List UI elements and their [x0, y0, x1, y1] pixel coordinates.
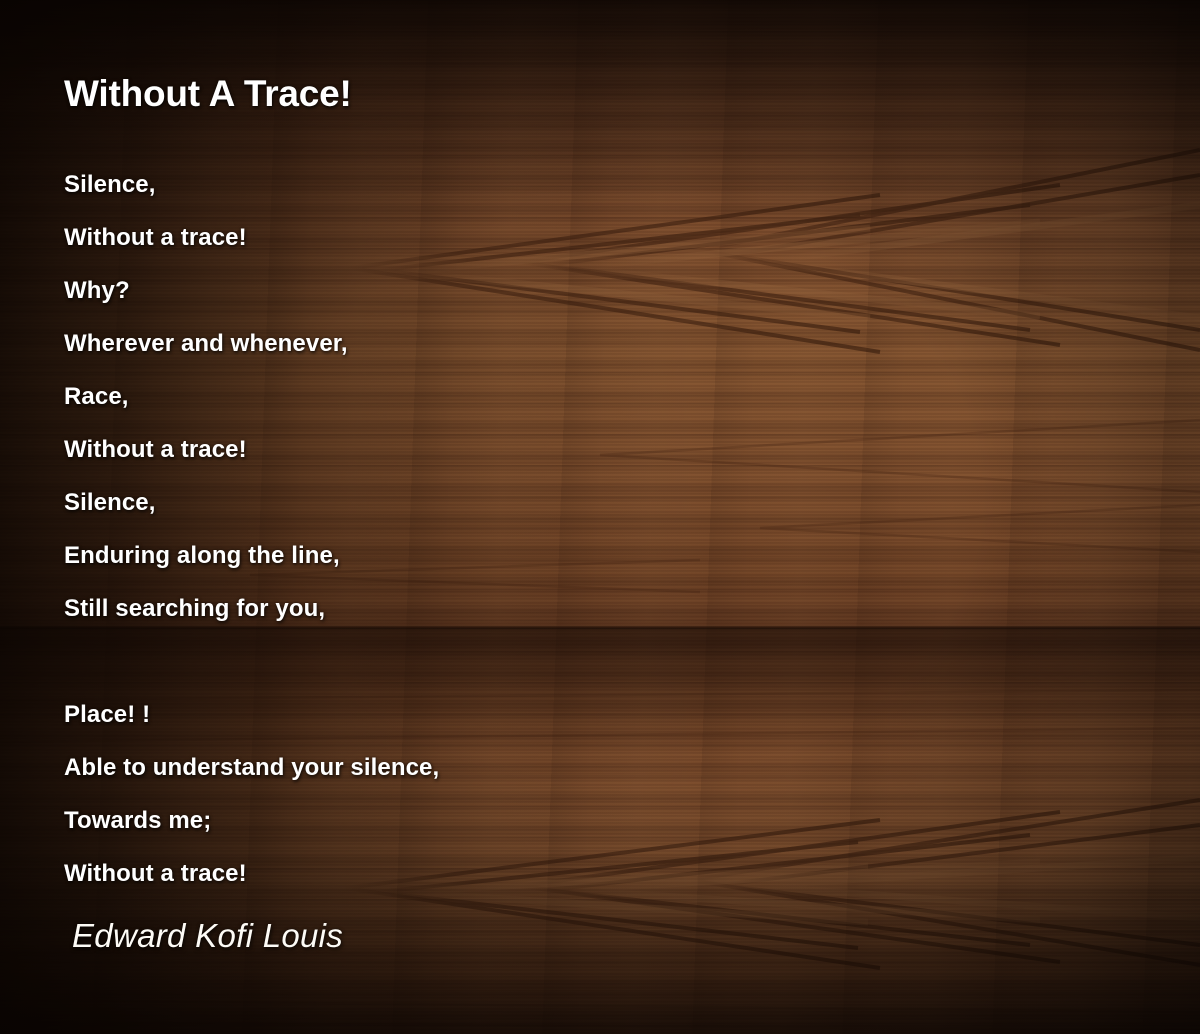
poem-card: Without A Trace! Silence, Without a trac…: [0, 0, 1200, 1034]
poem-author: Edward Kofi Louis: [72, 917, 343, 955]
poem-title: Without A Trace!: [64, 73, 352, 115]
poem-content: Without A Trace! Silence, Without a trac…: [0, 0, 1200, 1034]
poem-line: Without a trace!: [64, 211, 964, 264]
poem-line: Place! !: [64, 688, 964, 741]
poem-line: Towards me;: [64, 794, 964, 847]
poem-line: Able to understand your silence,: [64, 741, 964, 794]
poem-line: Wherever and whenever,: [64, 317, 964, 370]
poem-line: Silence,: [64, 158, 964, 211]
poem-line: Without a trace!: [64, 847, 964, 900]
poem-line: Still searching for you,: [64, 582, 964, 635]
poem-body: Silence, Without a trace! Why? Wherever …: [64, 158, 964, 900]
poem-line: Why?: [64, 264, 964, 317]
poem-line: Without a trace!: [64, 423, 964, 476]
poem-line: Race,: [64, 370, 964, 423]
poem-line: Enduring along the line,: [64, 529, 964, 582]
poem-line: Silence,: [64, 476, 964, 529]
stanza-break: [64, 635, 964, 688]
